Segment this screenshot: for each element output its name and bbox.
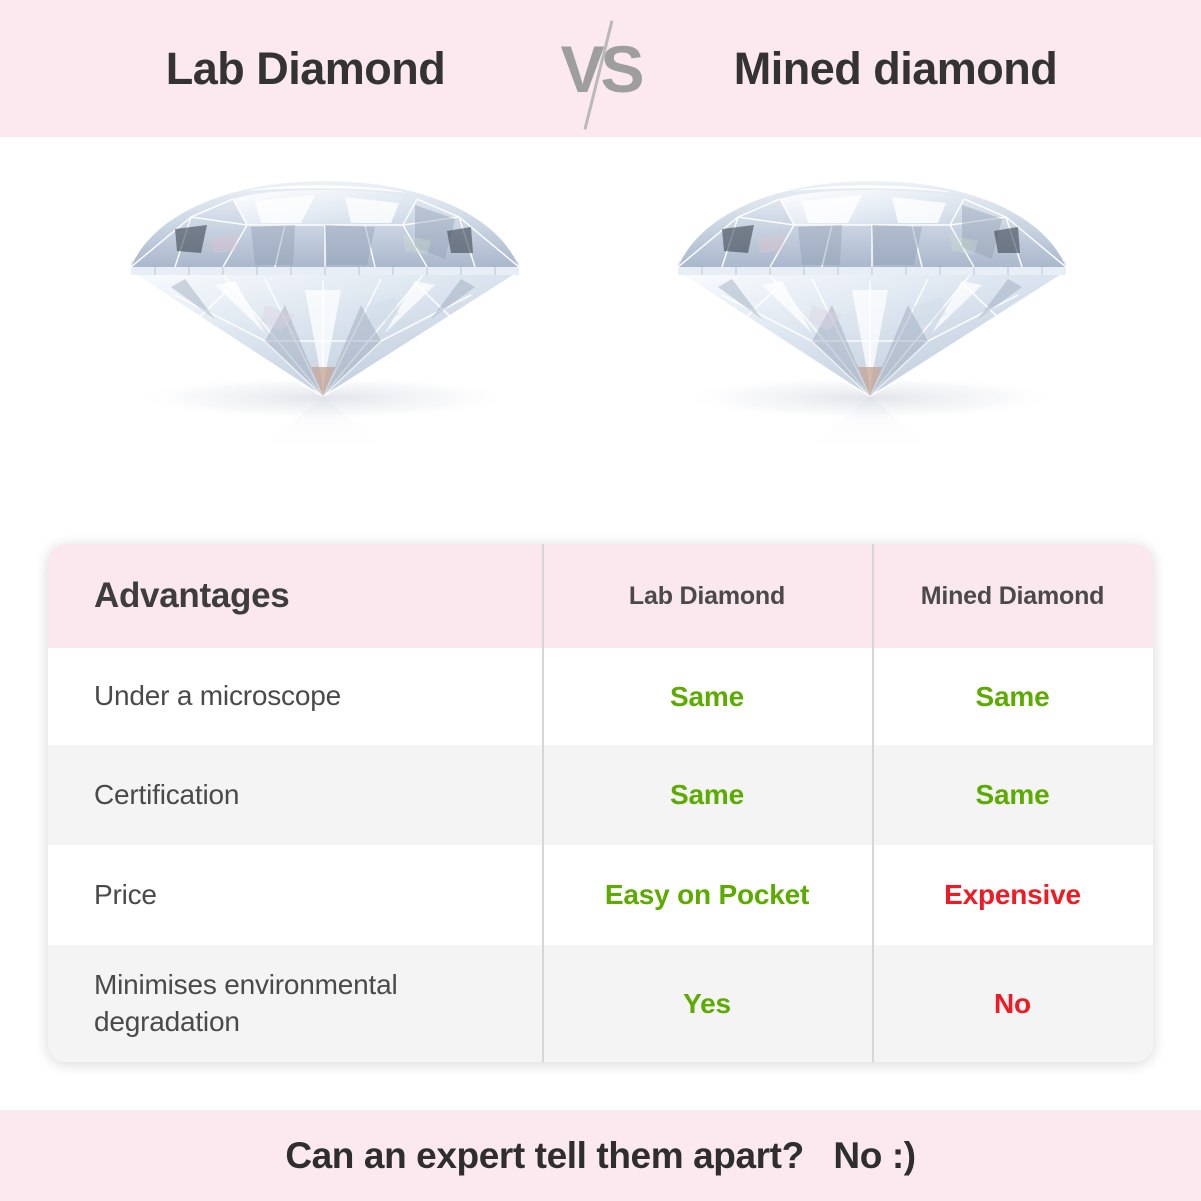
lab-value: Same [670,779,744,811]
infographic-page: Lab Diamond VS Mined diamond [0,0,1201,1201]
lab-value-cell: Same [542,648,872,745]
versus-badge: VS [541,9,661,129]
column-divider [872,945,874,1062]
table-row: Under a microscope Same Same [48,648,1153,745]
feature-label: Price [94,877,157,914]
feature-cell: Under a microscope [48,648,542,745]
table-row: Minimises environmental degradation Yes … [48,945,1153,1062]
lab-diamond-image [115,155,535,455]
left-product-title: Lab Diamond [71,43,541,95]
lab-value: Same [670,681,744,713]
mined-value: Same [976,779,1050,811]
column-divider [872,845,874,945]
comparison-table: Advantages Lab Diamond Mined Diamond Und… [48,544,1153,1062]
table-header-row: Advantages Lab Diamond Mined Diamond [48,544,1153,648]
diamond-images-section [0,137,1201,537]
mined-diamond-photo [662,155,1082,455]
footer-band: Can an expert tell them apart? No :) [0,1110,1201,1201]
column-divider [872,745,874,845]
mined-value: Same [976,681,1050,713]
advantages-label: Advantages [94,576,289,616]
feature-cell: Certification [48,745,542,845]
lab-value-cell: Yes [542,945,872,1062]
lab-value-cell: Same [542,745,872,845]
right-product-title: Mined diamond [661,43,1131,95]
mined-diamond-image [662,155,1082,455]
column-divider [542,745,544,845]
header-band: Lab Diamond VS Mined diamond [0,0,1201,137]
mined-value-cell: Expensive [872,845,1153,945]
table-row: Certification Same Same [48,745,1153,845]
feature-label: Minimises environmental degradation [94,967,528,1041]
header-cell-lab: Lab Diamond [542,544,872,648]
column-divider [542,648,544,745]
feature-cell: Price [48,845,542,945]
header-inner: Lab Diamond VS Mined diamond [0,9,1201,129]
comparison-table-card: Advantages Lab Diamond Mined Diamond Und… [48,544,1153,1062]
column-divider [872,544,874,648]
column-divider [542,845,544,945]
header-cell-mined: Mined Diamond [872,544,1153,648]
mined-value-cell: Same [872,648,1153,745]
header-cell-advantages: Advantages [48,544,542,648]
mined-value-cell: No [872,945,1153,1062]
feature-label: Certification [94,777,239,814]
mined-value: No [994,988,1031,1020]
mined-value: Expensive [944,879,1081,911]
lab-value: Yes [683,988,731,1020]
column-divider [872,648,874,745]
lab-value: Easy on Pocket [605,879,809,911]
mined-value-cell: Same [872,745,1153,845]
lab-column-label: Lab Diamond [629,582,785,611]
footer-question: Can an expert tell them apart? No :) [285,1135,915,1177]
feature-label: Under a microscope [94,678,341,715]
mined-column-label: Mined Diamond [921,582,1105,611]
column-divider [542,544,544,648]
lab-diamond-photo [115,155,535,455]
table-row: Price Easy on Pocket Expensive [48,845,1153,945]
feature-cell: Minimises environmental degradation [48,945,542,1062]
column-divider [542,945,544,1062]
lab-value-cell: Easy on Pocket [542,845,872,945]
